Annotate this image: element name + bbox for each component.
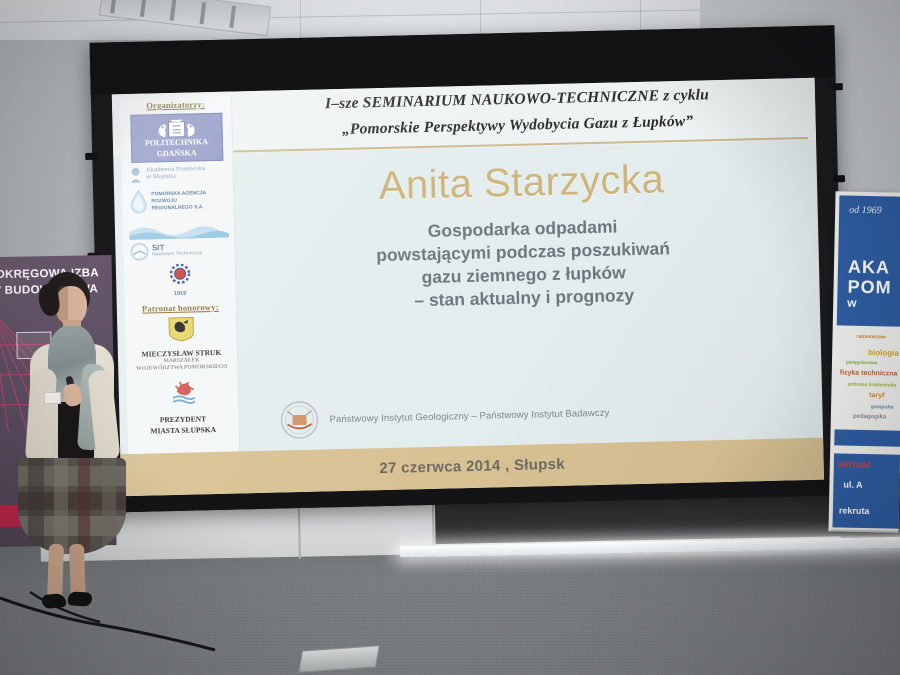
sit-year: 1919: [124, 289, 235, 299]
speaker-hair-front: [37, 283, 61, 317]
wave-graphic: [128, 216, 228, 240]
right-banner-address: ul. A: [843, 480, 862, 490]
academy-logo-icon: [127, 166, 143, 184]
slide-main-body: Anita Starzycka Gospodarka odpadami pows…: [233, 140, 815, 453]
right-banner-line2: POM: [847, 278, 891, 298]
pg-logo-line2: GDAŃSKA: [157, 148, 197, 158]
name-badge: [44, 392, 61, 404]
microphone-cable: [0, 590, 300, 660]
akademia-pomorska-logo: Akademia Pomorska w Słupsku: [127, 164, 227, 184]
university-crest-icon: [146, 117, 207, 142]
word-cloud: ratownictwo biologia pielęgniarstwo fizy…: [837, 333, 900, 422]
pomeranian-griffin-icon: [167, 315, 196, 342]
word-cloud-item-6: geografia: [871, 404, 894, 410]
organizers-label: Organizatorzy:: [120, 99, 231, 112]
since-year-label: od 1969: [849, 205, 882, 217]
speaker-plaid-skirt: [18, 458, 126, 554]
institute-name: Państwowy Instytut Geologiczny – Państwo…: [329, 407, 609, 425]
pig-pib-logo-icon: [279, 400, 320, 441]
word-cloud-item-5: taryf: [869, 392, 884, 399]
president-city: MIASTA SŁUPSKA: [128, 424, 239, 436]
word-cloud-item-2: pielęgniarstwo: [846, 360, 878, 366]
slide-logo-sidebar: Organizatorzy: POLITECHNIKA GDAŃSKA: [120, 96, 241, 493]
patron-role2: WOJEWÓDZTWA POMORSKIEGO: [126, 363, 237, 373]
speaker-person: [8, 272, 128, 612]
presenter-name: Anita Starzycka: [234, 154, 810, 213]
word-cloud-item-4: ochrona środowiska: [847, 382, 896, 389]
word-cloud-item-7: pedagogika: [853, 414, 886, 421]
word-cloud-item-0: ratownictwo: [856, 334, 885, 341]
seminar-title-line1: I–sze SEMINARIUM NAUKOWO-TECHNICZNE z cy…: [232, 84, 802, 115]
gear-emblem-icon: [164, 263, 195, 286]
plaid-pattern-icon: [18, 458, 126, 554]
slide-content: I–sze SEMINARIUM NAUKOWO-TECHNICZNE z cy…: [112, 78, 824, 496]
president-title: PREZYDENT: [127, 413, 238, 425]
word-cloud-item-3: fizyka techniczna: [840, 369, 898, 377]
sit-line2: Naukowo Techniczne: [152, 250, 203, 258]
right-banner-divider-bar: [834, 429, 900, 446]
sit-logo-icon: [129, 242, 149, 262]
patronage-label: Patronat honorowy:: [125, 301, 236, 314]
right-rollup-banner: od 1969 AKA POM w ratownictwo biologia p…: [828, 191, 900, 532]
politechnika-gdanska-logo: POLITECHNIKA GDAŃSKA: [130, 113, 223, 163]
right-banner-recruit: rekruta: [839, 505, 870, 516]
wave-icon: [128, 216, 228, 240]
right-banner-line3: w: [847, 296, 857, 310]
ap-line2: w Słupsku: [146, 173, 205, 181]
right-banner-header-block: od 1969 AKA POM w: [837, 195, 900, 326]
seminar-title-line2: „Pomorskie Perspektywy Wydobycia Gazu z …: [233, 110, 803, 141]
presentation-title: Gospodarka odpadami powstającymi podczas…: [235, 211, 812, 317]
slupsk-coat-of-arms-icon: [167, 379, 198, 408]
right-banner-line1: AKA: [848, 258, 890, 278]
sit-logo: SIT Naukowo Techniczne: [129, 240, 229, 262]
word-cloud-item-1: biologia: [868, 348, 899, 358]
right-banner-highlight: wirtual: [838, 459, 870, 471]
water-drop-icon: [128, 189, 149, 215]
projection-screen: I–sze SEMINARIUM NAUKOWO-TECHNICZNE z cy…: [90, 25, 846, 512]
presentation-photo-scene: I–sze SEMINARIUM NAUKOWO-TECHNICZNE z cy…: [0, 0, 900, 675]
institute-row: Państwowy Instytut Geologiczny – Państwo…: [279, 388, 800, 440]
parr-logo: POMORSKA AGENCJA ROZWOJU REGIONALNEGO S.…: [128, 187, 229, 215]
parr-line2: REGIONALNEGO S.A.: [151, 203, 228, 212]
ceiling-lamp-icon: [99, 0, 271, 36]
